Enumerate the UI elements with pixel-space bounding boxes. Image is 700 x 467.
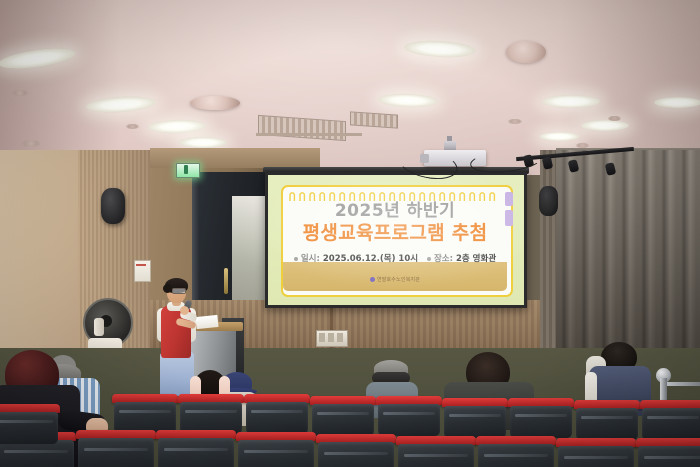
presenter-hand bbox=[180, 306, 189, 315]
chair-back bbox=[78, 438, 154, 467]
table-row[interactable] bbox=[112, 394, 178, 434]
recessed-downlight bbox=[12, 90, 28, 96]
table-row[interactable] bbox=[636, 438, 700, 467]
chair-bar bbox=[324, 452, 388, 455]
chair-bar bbox=[84, 448, 148, 451]
chair-bar bbox=[404, 454, 468, 457]
chair-bar bbox=[0, 420, 53, 423]
wall-speaker-left bbox=[101, 188, 125, 224]
chair-back bbox=[576, 408, 638, 440]
chair-bar bbox=[251, 410, 304, 413]
chair-bar bbox=[515, 414, 568, 417]
table-row[interactable] bbox=[556, 438, 636, 467]
chair-back bbox=[312, 404, 374, 436]
table-row[interactable] bbox=[236, 432, 316, 467]
chair-bar bbox=[484, 454, 548, 457]
chair-back bbox=[246, 402, 308, 434]
table-row[interactable] bbox=[442, 398, 508, 438]
table-row[interactable] bbox=[476, 436, 556, 467]
table-row[interactable] bbox=[244, 394, 310, 434]
chair-bar bbox=[644, 456, 700, 459]
exit-running-man-icon bbox=[184, 165, 188, 174]
chair-bar bbox=[383, 412, 436, 415]
fan-pole bbox=[94, 318, 104, 336]
table-row[interactable] bbox=[574, 400, 640, 440]
table-row[interactable] bbox=[508, 398, 574, 438]
chair-bar bbox=[119, 410, 172, 413]
chair-back bbox=[510, 406, 572, 438]
chair-bar bbox=[185, 410, 238, 413]
chair-bar bbox=[647, 416, 700, 419]
fluorescent-oval-light bbox=[539, 132, 579, 141]
chair-bar bbox=[449, 414, 502, 417]
chair-bar bbox=[164, 448, 228, 451]
chair-back bbox=[444, 406, 506, 438]
chair-back bbox=[158, 438, 234, 467]
recessed-downlight bbox=[508, 119, 522, 124]
ceiling-shadow-left bbox=[0, 0, 120, 175]
fluorescent-oval-light bbox=[654, 97, 700, 108]
presenter-skirt bbox=[160, 352, 194, 396]
fluorescent-oval-light bbox=[542, 95, 600, 108]
table-row[interactable] bbox=[156, 430, 236, 467]
fluorescent-oval-light bbox=[179, 137, 227, 148]
chair-bar bbox=[317, 412, 370, 415]
ceiling-speaker-dome bbox=[190, 96, 240, 110]
light-switch[interactable] bbox=[337, 333, 343, 342]
recessed-downlight bbox=[608, 116, 621, 121]
chair-bar bbox=[581, 416, 634, 419]
lectern-paper bbox=[195, 315, 218, 329]
screen-glare bbox=[268, 175, 524, 305]
recessed-downlight bbox=[22, 140, 40, 147]
chair-bar bbox=[564, 456, 628, 459]
light-switch[interactable] bbox=[328, 333, 334, 342]
table-row[interactable] bbox=[76, 430, 156, 467]
wall-speaker-right bbox=[539, 186, 558, 216]
stanchion-arm bbox=[667, 382, 700, 386]
table-row[interactable] bbox=[640, 400, 700, 440]
table-row[interactable] bbox=[178, 394, 244, 434]
chair-bar bbox=[244, 450, 308, 453]
chair-back bbox=[0, 412, 58, 444]
chair-back bbox=[238, 440, 314, 467]
wall-notice-line bbox=[136, 264, 146, 266]
presenter-hair-bun bbox=[163, 284, 172, 293]
chair-bar bbox=[4, 450, 68, 453]
door-handle[interactable] bbox=[224, 268, 228, 294]
chair-back bbox=[642, 408, 700, 440]
table-row[interactable] bbox=[310, 396, 376, 436]
fluorescent-oval-light bbox=[581, 120, 629, 131]
table-row[interactable] bbox=[316, 434, 396, 467]
auditorium-photo: 2025년 하반기 평생교육프로그램 추첨 일시: 2025.06.12.(목)… bbox=[0, 0, 700, 467]
ceiling-speaker-dome bbox=[506, 41, 546, 63]
chair-back bbox=[378, 404, 440, 436]
presenter-glasses bbox=[172, 288, 186, 294]
table-row[interactable] bbox=[396, 436, 476, 467]
recessed-downlight bbox=[126, 124, 139, 129]
chair-back bbox=[0, 440, 74, 467]
vent-rail bbox=[256, 133, 362, 136]
table-row[interactable] bbox=[0, 404, 60, 444]
exit-sign-icon bbox=[176, 163, 200, 178]
door-glass-reflection bbox=[232, 196, 266, 316]
table-row[interactable] bbox=[376, 396, 442, 436]
light-switch[interactable] bbox=[319, 333, 325, 342]
